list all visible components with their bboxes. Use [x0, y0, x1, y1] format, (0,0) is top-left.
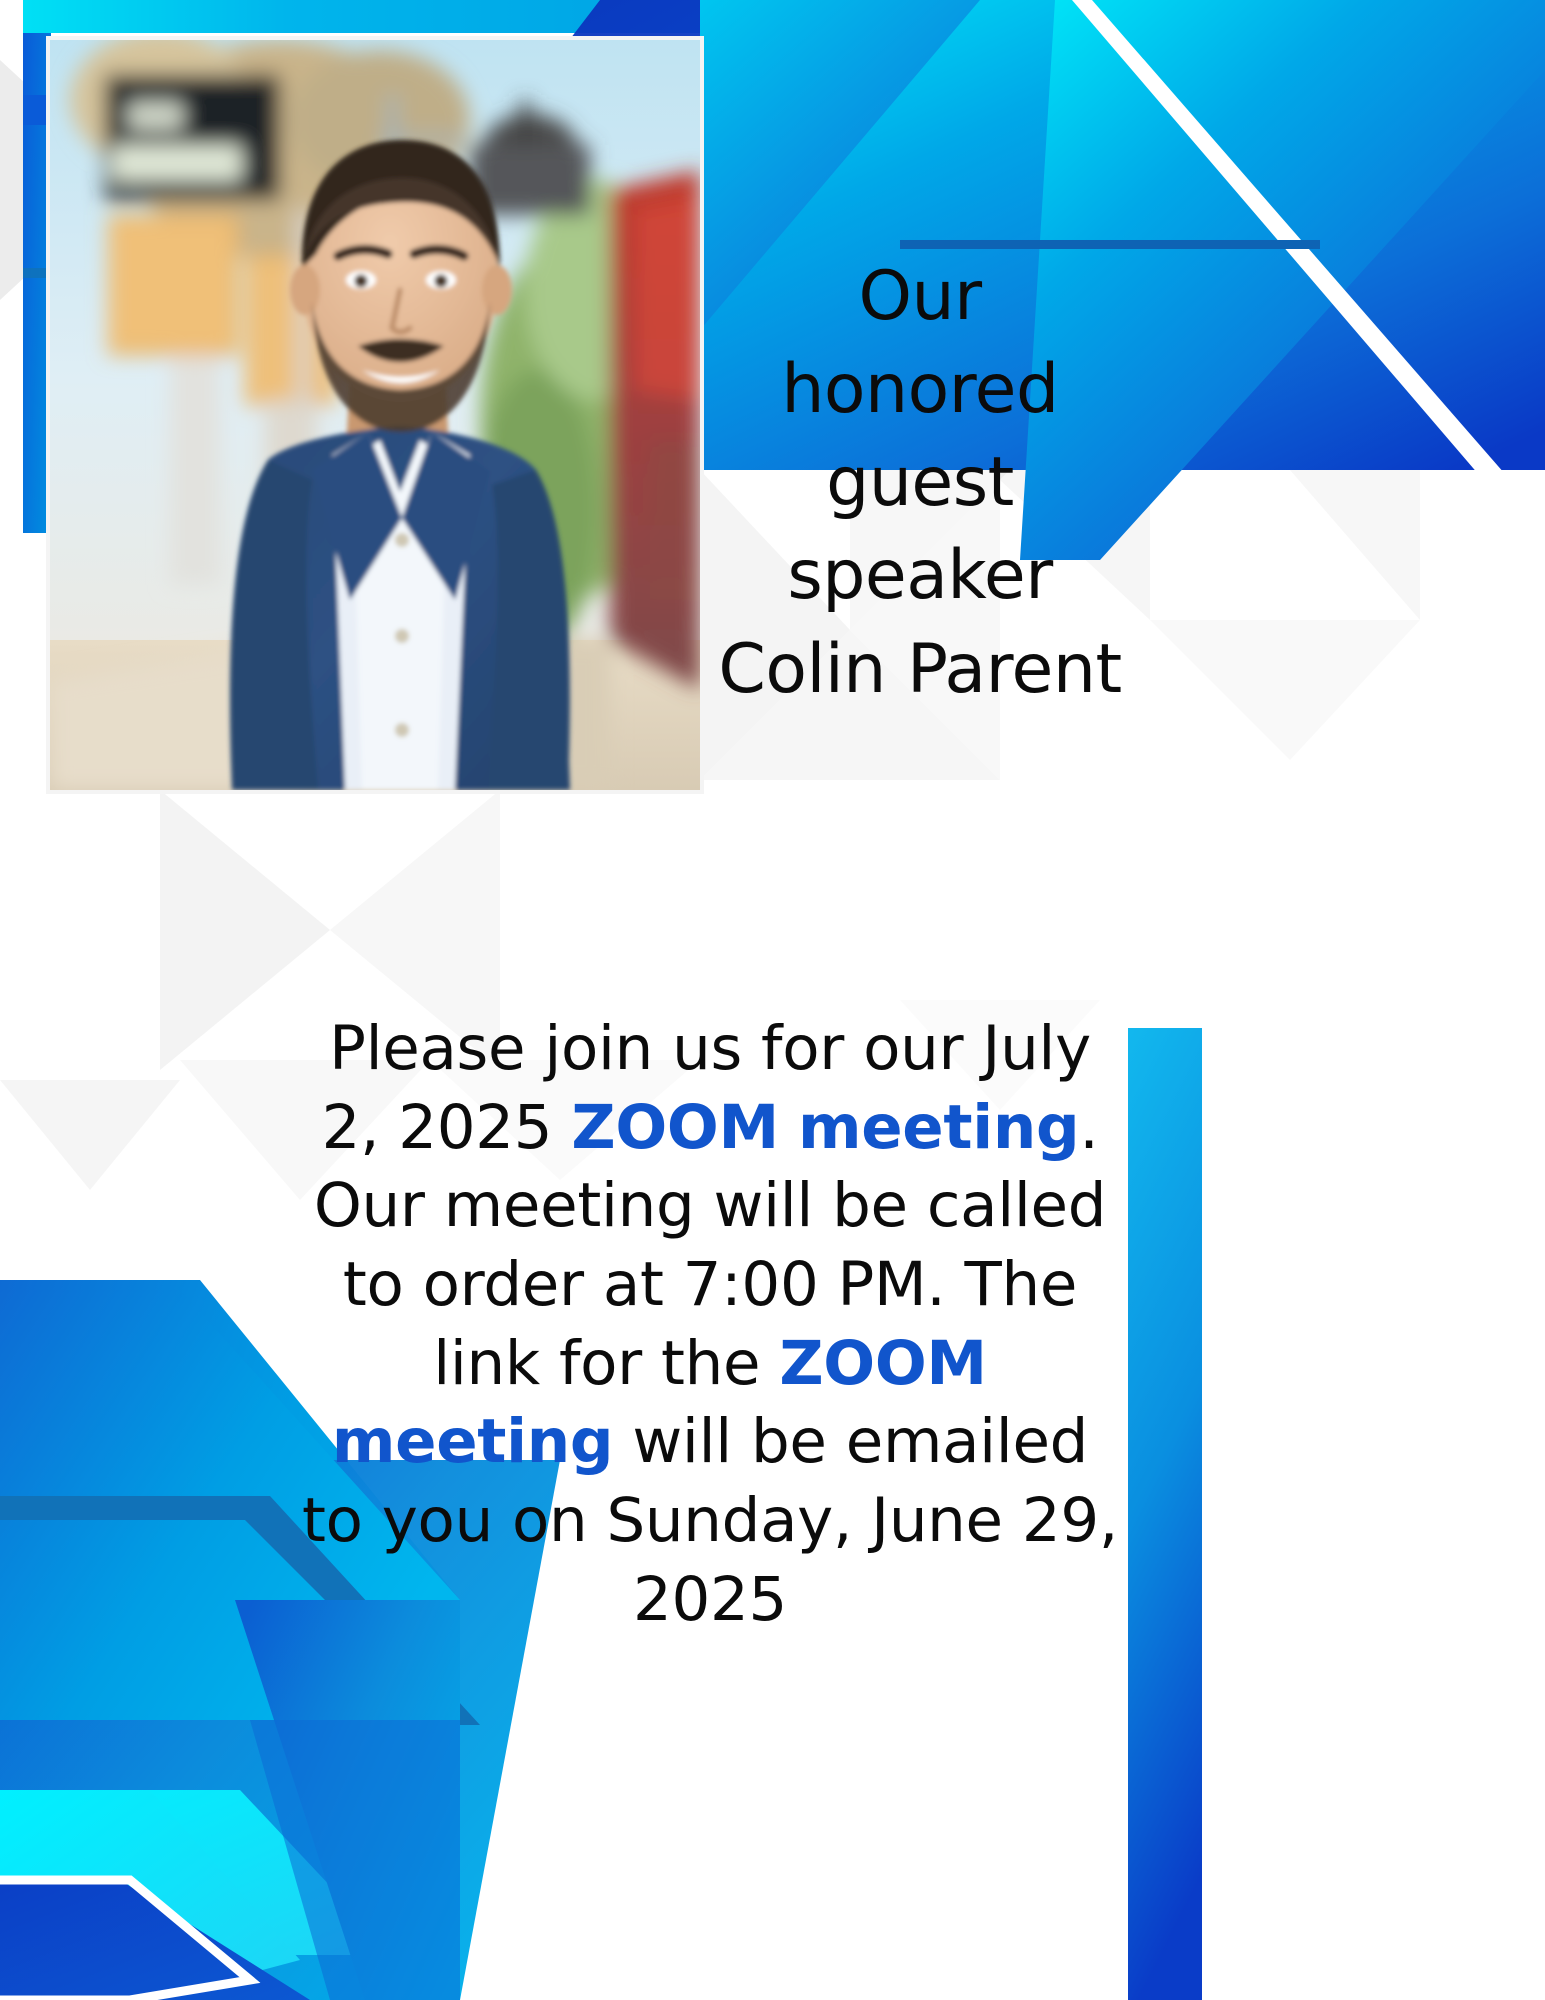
cyan-chevron-b: [0, 1790, 300, 2000]
speaker-photo-svg: [50, 40, 700, 790]
left-vertical-bar: [23, 33, 51, 533]
zoom-highlight-2: meeting: [798, 1092, 1079, 1163]
cyan-chevron: [0, 1790, 395, 1955]
top-cyan-band: [23, 0, 773, 33]
headline-line-3: guest: [700, 436, 1140, 529]
bl-shape-upper: [0, 1280, 200, 1470]
headline-line-1: Our: [700, 250, 1140, 343]
bl-shape-right-edge: [235, 1600, 460, 2000]
white-chevron-outline: [0, 1880, 250, 2000]
headline-speaker-name: Colin Parent: [670, 623, 1170, 716]
right-vertical-gradient-bar: [1128, 1028, 1202, 2000]
flyer-canvas: Our honored guest speaker Colin Parent P…: [0, 0, 1545, 2000]
headline-line-4: speaker: [700, 529, 1140, 622]
body-copy-block: Please join us for our July 2, 2025 ZOOM…: [300, 1010, 1120, 1640]
bl-shape-overlap: [250, 1720, 460, 2000]
body-line-1: Please join us for our: [329, 1013, 963, 1084]
headline-line-2: honored: [700, 343, 1140, 436]
body-line-6-plain: will be: [613, 1406, 826, 1477]
top-thin-line: [900, 240, 1320, 249]
speaker-photo: [50, 40, 700, 790]
deep-blue-triangle: [0, 1880, 310, 2000]
headline-block: Our honored guest speaker Colin Parent: [700, 250, 1140, 716]
speaker-photo-frame: [50, 40, 700, 790]
zoom-highlight-1: ZOOM: [571, 1092, 778, 1163]
white-pinstripe: [1072, 0, 1545, 552]
body-line-8: Sunday, June 29, 2025: [607, 1485, 1118, 1635]
